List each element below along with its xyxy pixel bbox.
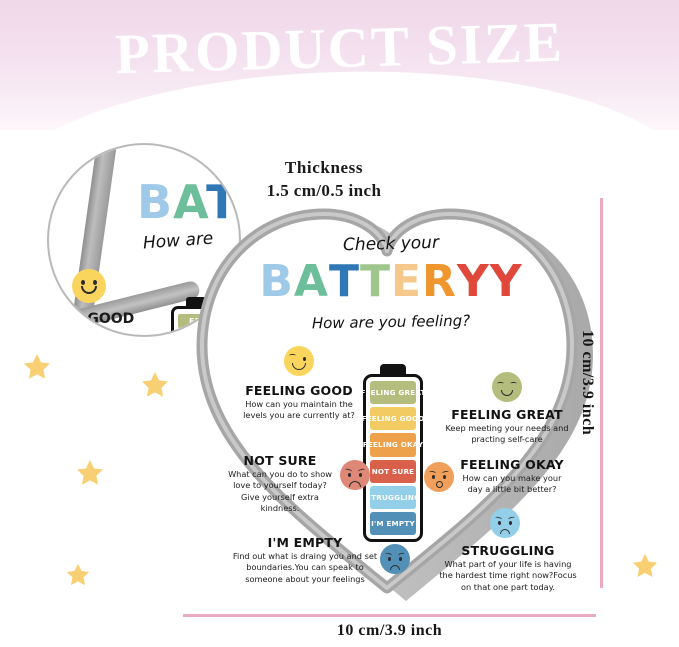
info-block-feeling-okay: FEELING OKAY How can you make your day a… — [460, 458, 564, 496]
info-title-feeling-great: FEELING GREAT — [444, 408, 570, 422]
info-title-not-sure: NOT SURE — [224, 454, 336, 468]
face-not-sure-icon — [340, 460, 370, 490]
battery-letter-4: E — [391, 256, 422, 307]
smiley-left-eye — [81, 280, 85, 285]
battery-letter-1: A — [294, 256, 329, 307]
face-left-eye — [432, 475, 435, 479]
face-mouth — [500, 529, 510, 534]
info-body-struggling: What part of your life is having the har… — [438, 559, 578, 592]
face-right-eye — [303, 357, 306, 361]
face-left-brow — [289, 354, 296, 357]
star-icon-4 — [631, 552, 659, 580]
face-im-empty-icon — [380, 544, 410, 574]
dimension-label-width: 10 cm/3.9 inch — [183, 622, 596, 640]
star-icon-3 — [65, 562, 91, 588]
face-feeling-great-icon — [492, 372, 522, 402]
face-right-eye — [359, 473, 362, 477]
dimension-label-height: 10 cm/3.9 inch — [578, 330, 596, 435]
info-body-feeling-okay: How can you make your day a little bit b… — [460, 473, 564, 495]
info-block-feeling-good: FEELING GOOD How can you maintain the le… — [238, 384, 360, 422]
face-right-brow — [358, 468, 366, 473]
product-board: Check your BATTERYY How are you feeling?… — [196, 196, 596, 606]
info-title-struggling: STRUGGLING — [438, 544, 578, 558]
battery-letter-6: Y — [457, 256, 490, 307]
smiley-right-eye — [93, 280, 97, 285]
magnified-smiley-icon — [72, 269, 106, 303]
info-block-struggling: STRUGGLING What part of your life is hav… — [438, 544, 578, 593]
face-mouth — [501, 390, 513, 396]
info-body-not-sure: What can you do to show love to yourself… — [224, 469, 336, 513]
header-banner: PRODUCT SIZE — [0, 0, 679, 130]
star-icon-0 — [22, 352, 52, 382]
battery-segment-0: FEELING GREAT — [370, 381, 416, 404]
face-right-eye — [509, 521, 512, 525]
star-icon-1 — [140, 370, 170, 400]
smiley-mouth — [81, 286, 97, 294]
headline-battery-word: BATTERYY — [196, 256, 586, 307]
face-right-brow — [398, 552, 406, 557]
face-right-brow — [510, 382, 517, 385]
headline-sub: How are you feeling? — [196, 310, 586, 335]
dimension-line-horizontal — [183, 614, 596, 617]
info-title-im-empty: I'M EMPTY — [230, 536, 380, 550]
info-title-feeling-okay: FEELING OKAY — [460, 458, 564, 472]
info-block-not-sure: NOT SURE What can you do to show love to… — [224, 454, 336, 514]
headline-top: Check your — [196, 229, 586, 259]
magnified-label-fragment: G GOOD — [71, 311, 134, 327]
magnified-letter-b: B — [137, 175, 173, 229]
info-block-feeling-great: FEELING GREAT Keep meeting your needs an… — [444, 408, 570, 446]
dimension-line-vertical — [600, 198, 603, 588]
thickness-label: Thickness — [228, 157, 420, 180]
info-body-im-empty: Find out what is draing you and set boun… — [230, 551, 380, 584]
info-block-im-empty: I'M EMPTY Find out what is draing you an… — [230, 536, 380, 585]
face-mouth — [292, 363, 306, 370]
battery-letter-0: B — [259, 256, 294, 307]
battery-segment-5: I'M EMPTY — [370, 512, 416, 535]
battery-letter-5: R — [422, 256, 457, 307]
info-body-feeling-great: Keep meeting your needs and practing sel… — [444, 423, 570, 445]
board-content: Check your BATTERYY How are you feeling?… — [196, 196, 586, 596]
face-left-eye — [388, 557, 391, 561]
battery-letter-2: T — [329, 256, 360, 307]
face-left-brow — [497, 382, 504, 385]
face-mouth — [349, 481, 361, 487]
battery-graphic: FEELING GREAT FEELING GOOD FEELING OKAY … — [363, 364, 423, 546]
info-body-feeling-good: How can you maintain the levels you are … — [238, 399, 360, 421]
star-icon-2 — [75, 458, 105, 488]
battery-segment-1: FEELING GOOD — [370, 407, 416, 430]
battery-letter-7: Y — [490, 256, 523, 307]
face-right-brow — [508, 516, 516, 521]
face-right-brow — [442, 470, 449, 474]
info-title-feeling-good: FEELING GOOD — [238, 384, 360, 398]
face-feeling-okay-icon — [424, 462, 454, 492]
battery-body: FEELING GREAT FEELING GOOD FEELING OKAY … — [363, 374, 423, 542]
face-mouth — [390, 565, 400, 570]
face-mouth — [436, 481, 443, 488]
face-feeling-good-icon — [284, 346, 314, 376]
battery-segment-2: FEELING OKAY — [370, 433, 416, 456]
face-right-eye — [443, 475, 446, 479]
battery-segment-4: STRUGGLING — [370, 486, 416, 509]
face-left-eye — [348, 473, 351, 477]
face-struggling-icon — [490, 508, 520, 538]
battery-letter-3: T — [360, 256, 391, 307]
face-left-eye — [498, 521, 501, 525]
battery-segment-3: NOT SURE — [370, 460, 416, 483]
face-right-eye — [399, 557, 402, 561]
